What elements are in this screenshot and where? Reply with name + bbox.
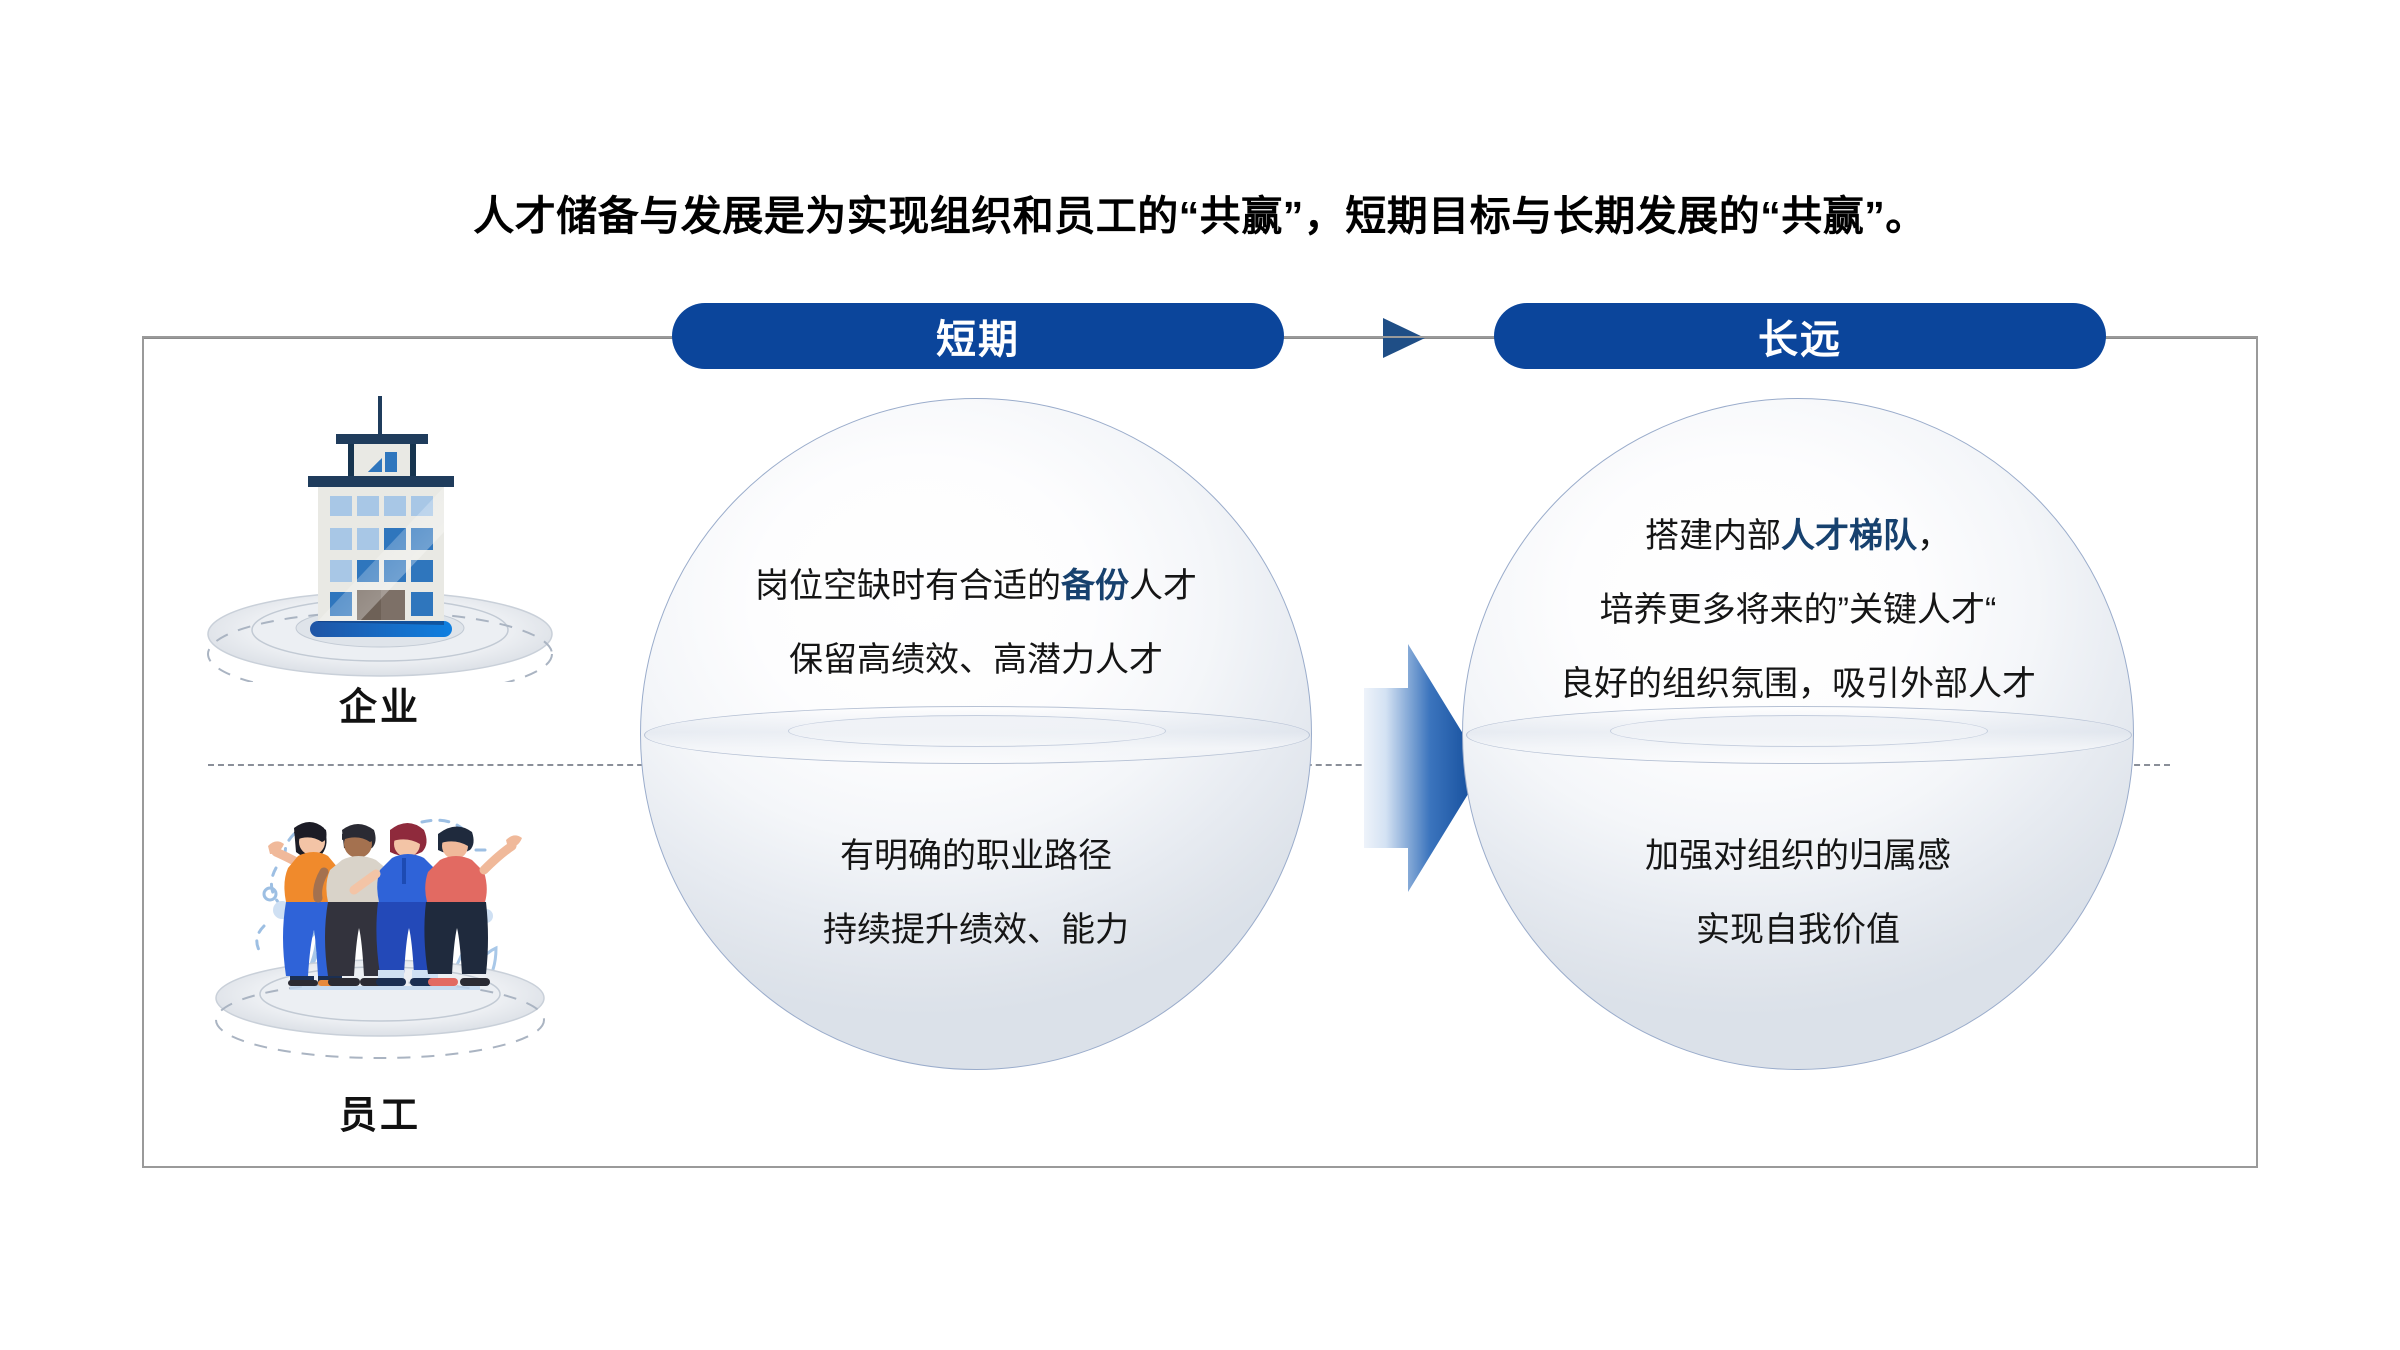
highlight-fragment: 人才梯队 bbox=[1781, 517, 1917, 555]
office-building-icon bbox=[190, 382, 570, 682]
sphere-long-term: 搭建内部人才梯队， 培养更多将来的”关键人才“ 良好的组织氛围，吸引外部人才 加… bbox=[1462, 398, 2134, 1070]
text-fragment: ， bbox=[1917, 517, 1951, 555]
sphere-long-term-enterprise-line-1: 搭建内部人才梯队， bbox=[1463, 499, 2133, 573]
sphere-equator-inner-ring bbox=[788, 715, 1165, 747]
sphere-short-term-enterprise-text: 岗位空缺时有合适的备份人才 保留高绩效、高潜力人才 bbox=[641, 549, 1311, 697]
sphere-long-term-employee-line-2: 实现自我价值 bbox=[1463, 893, 2133, 967]
sphere-equator-ring bbox=[644, 706, 1309, 764]
sphere-short-term-employee-text: 有明确的职业路径 持续提升绩效、能力 bbox=[641, 819, 1311, 967]
sphere-short-term-employee-line-2: 持续提升绩效、能力 bbox=[641, 893, 1311, 967]
sphere-short-term: 岗位空缺时有合适的备份人才 保留高绩效、高潜力人才 有明确的职业路径 持续提升绩… bbox=[640, 398, 1312, 1070]
highlight-fragment: 备份 bbox=[1061, 567, 1129, 605]
phase-pill-long-term[interactable]: 长远 bbox=[1494, 303, 2106, 369]
team-people-icon bbox=[190, 790, 570, 1090]
sphere-short-term-enterprise-line-1: 岗位空缺时有合适的备份人才 bbox=[641, 549, 1311, 623]
actor-employee-label: 员工 bbox=[190, 1084, 570, 1139]
sphere-long-term-enterprise-text: 搭建内部人才梯队， 培养更多将来的”关键人才“ 良好的组织氛围，吸引外部人才 bbox=[1463, 499, 2133, 721]
text-fragment: 人才 bbox=[1129, 567, 1197, 605]
sphere-long-term-employee-text: 加强对组织的归属感 实现自我价值 bbox=[1463, 819, 2133, 967]
actor-employee: 员工 bbox=[190, 790, 570, 1139]
page-title: 人才储备与发展是为实现组织和员工的“共赢”，短期目标与长期发展的“共赢”。 bbox=[0, 182, 2400, 242]
sphere-long-term-enterprise-line-3: 良好的组织氛围，吸引外部人才 bbox=[1463, 647, 2133, 721]
sphere-long-term-employee-line-1: 加强对组织的归属感 bbox=[1463, 819, 2133, 893]
text-fragment: 岗位空缺时有合适的 bbox=[755, 567, 1061, 605]
phase-pill-long-term-label: 长远 bbox=[1758, 307, 1842, 365]
sphere-long-term-enterprise-line-2: 培养更多将来的”关键人才“ bbox=[1463, 573, 2133, 647]
text-fragment: 搭建内部 bbox=[1645, 517, 1781, 555]
actor-enterprise-label: 企业 bbox=[190, 676, 570, 731]
sphere-short-term-employee-line-1: 有明确的职业路径 bbox=[641, 819, 1311, 893]
sphere-short-term-enterprise-line-2: 保留高绩效、高潜力人才 bbox=[641, 623, 1311, 697]
actor-enterprise: 企业 bbox=[190, 382, 570, 731]
phase-pill-short-term[interactable]: 短期 bbox=[672, 303, 1284, 369]
phase-pill-short-term-label: 短期 bbox=[936, 307, 1020, 365]
